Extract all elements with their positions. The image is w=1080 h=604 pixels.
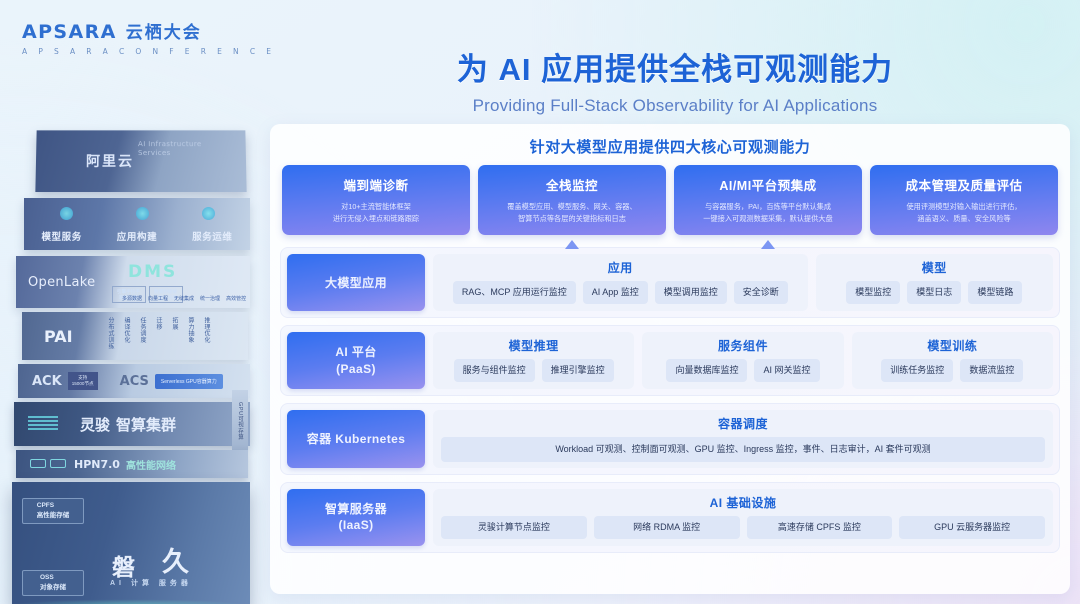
chip-item[interactable]: 模型日志 <box>907 281 961 304</box>
illus-dms-tag-4: 高效管控 <box>226 295 246 302</box>
illus-ack-badge: 支持15000节点 <box>68 372 98 389</box>
headline-subtitle: Providing Full-Stack Observability for A… <box>270 96 1080 116</box>
illus-pai-tag-5: 算力抽象 <box>186 317 195 350</box>
illus-pai-tag-4: 拓展 <box>170 317 179 350</box>
model-service-icon <box>60 207 73 220</box>
chip-item[interactable]: 推理引擎监控 <box>542 359 614 382</box>
panel-title: 针对大模型应用提供四大核心可观测能力 <box>280 136 1060 157</box>
chip-item[interactable]: 模型调用监控 <box>655 281 727 304</box>
capability-cards: 端到端诊断 对10+主流智能体框架进行无侵入埋点和链路跟踪 全栈监控 覆盖模型应… <box>280 165 1060 235</box>
illus-cloud-en-label: AI Infrastructure Services <box>138 140 230 159</box>
network-ports-icon <box>30 459 66 468</box>
capability-card[interactable]: 端到端诊断 对10+主流智能体框架进行无侵入埋点和链路跟踪 <box>282 165 470 235</box>
group-ai-infrastructure: AI 基础设施 灵骏计算节点监控 网络 RDMA 监控 高速存储 CPFS 监控… <box>433 489 1053 546</box>
logo-chinese-text: 云栖大会 <box>126 18 202 43</box>
illus-service-2: 服务运维 <box>192 229 232 243</box>
stack-row-ai-platform: AI 平台(PaaS) 模型推理 服务与组件监控 推理引擎监控 服务组件 向量数… <box>280 325 1060 396</box>
row-label[interactable]: 大模型应用 <box>287 254 425 311</box>
group-title: 模型推理 <box>509 337 559 354</box>
chip-item[interactable]: 灵骏计算节点监控 <box>441 516 587 539</box>
cluster-bars-icon <box>28 416 58 430</box>
main-panel: 针对大模型应用提供四大核心可观测能力 端到端诊断 对10+主流智能体框架进行无侵… <box>270 124 1070 594</box>
stack-row-kubernetes: 容器 Kubernetes 容器调度 Workload 可观测、控制面可观测、G… <box>280 403 1060 475</box>
stack-rows: 大模型应用 应用 RAG、MCP 应用运行监控 AI App 监控 模型调用监控… <box>280 247 1060 552</box>
card-arrow-icon <box>565 240 579 249</box>
card-title: 全栈监控 <box>486 175 658 194</box>
illus-layer-openlake: OpenLake DMS 引擎手拉手联邦计算 数据秒级统一湖仓共享 多源数据 向… <box>16 256 250 308</box>
apsara-logo: APSARA 云栖大会 A P S A R A C O N F E R E N … <box>22 18 275 56</box>
chip-item[interactable]: 向量数据库监控 <box>666 359 747 382</box>
chip-item[interactable]: 模型监控 <box>846 281 900 304</box>
card-title: 成本管理及质量评估 <box>878 175 1050 194</box>
chip-item[interactable]: 网络 RDMA 监控 <box>594 516 740 539</box>
illus-layer-cluster: 灵骏 智算集群 <box>14 402 250 446</box>
illus-base-glow <box>3 599 258 604</box>
illus-cpfs-label: CPFS高性能存储 <box>22 498 84 524</box>
illus-ack-label: ACK <box>32 374 62 389</box>
illus-dms-label: DMS <box>128 262 177 282</box>
alibaba-cloud-stack-illustration: 阿里云 AI Infrastructure Services 模型服务 应用构建… <box>0 122 262 604</box>
group-title: AI 基础设施 <box>710 494 777 511</box>
illus-pai-tag-3: 迁移 <box>154 317 163 350</box>
row-label[interactable]: 容器 Kubernetes <box>287 410 425 468</box>
service-ops-icon <box>202 207 215 220</box>
illus-layer-network: HPN7.0 高性能网络 <box>16 450 248 478</box>
illus-acs-label: ACS <box>120 374 149 389</box>
card-title: AI/MI平台预集成 <box>682 175 854 194</box>
chip-item[interactable]: 服务与组件监控 <box>454 359 535 382</box>
group-application: 应用 RAG、MCP 应用运行监控 AI App 监控 模型调用监控 安全诊断 <box>433 254 808 311</box>
stack-row-iaas: 智算服务器(IaaS) AI 基础设施 灵骏计算节点监控 网络 RDMA 监控 … <box>280 482 1060 553</box>
chip-item[interactable]: AI 网关监控 <box>754 359 819 382</box>
group-title: 应用 <box>608 259 633 276</box>
illus-network-label: 高性能网络 <box>126 457 176 472</box>
illus-acs-badge: Serverless GPU容器算力 <box>155 374 223 389</box>
chip-item[interactable]: RAG、MCP 应用运行监控 <box>453 281 576 304</box>
illus-dms-tag-3: 统一治理 <box>200 295 220 302</box>
card-description: 使用评测模型对输入输出进行评估，涵盖语义、质量、安全风险等 <box>878 201 1050 224</box>
illus-dms-tag-1: 向量工程 <box>148 295 168 302</box>
illus-cluster-label: 智算集群 <box>116 414 176 435</box>
illus-pai-tag-6: 推理优化 <box>202 317 211 350</box>
chip-item[interactable]: 安全诊断 <box>734 281 788 304</box>
illus-server-char-1: 磐 <box>112 548 135 582</box>
illus-network-name: HPN7.0 <box>74 458 120 471</box>
chip-item[interactable]: GPU 云服务器监控 <box>899 516 1045 539</box>
row-label[interactable]: AI 平台(PaaS) <box>287 332 425 389</box>
group-title: 服务组件 <box>718 337 768 354</box>
illus-gpu-side-label: GPU可视存算 <box>232 390 248 452</box>
card-description: 覆盖模型应用、模型服务、网关、容器、智算节点等各层的关键指标和日志 <box>486 201 658 224</box>
app-build-icon <box>136 207 149 220</box>
chip-item[interactable]: Workload 可观测、控制面可观测、GPU 监控、Ingress 监控，事件… <box>441 437 1045 462</box>
logo-apsara-text: APSARA <box>22 21 117 43</box>
card-description: 与容器服务，PAI，百炼等平台默认集成一键接入可观测数据采集，默认提供大盘 <box>682 201 854 224</box>
capability-card[interactable]: 全栈监控 覆盖模型应用、模型服务、网关、容器、智算节点等各层的关键指标和日志 <box>478 165 666 235</box>
illus-layer-container: ACK 支持15000节点 ACS Serverless GPU容器算力 <box>18 364 250 398</box>
illus-layer-services: 模型服务 应用构建 服务运维 <box>24 198 250 250</box>
illus-service-0: 模型服务 <box>41 229 81 243</box>
illus-service-1: 应用构建 <box>117 229 157 243</box>
page-headline: 为 AI 应用提供全栈可观测能力 Providing Full-Stack Ob… <box>270 44 1080 116</box>
card-description: 对10+主流智能体框架进行无侵入埋点和链路跟踪 <box>290 201 462 224</box>
stack-row-llm-application: 大模型应用 应用 RAG、MCP 应用运行监控 AI App 监控 模型调用监控… <box>280 247 1060 318</box>
chip-item[interactable]: 数据流监控 <box>960 359 1023 382</box>
card-arrow-icon <box>761 240 775 249</box>
logo-subtitle: A P S A R A C O N F E R E N C E <box>22 47 275 56</box>
capability-card[interactable]: 成本管理及质量评估 使用评测模型对输入输出进行评估，涵盖语义、质量、安全风险等 <box>870 165 1058 235</box>
illus-dms-tag-2: 无缝集成 <box>174 295 194 302</box>
illus-pai-label: PAI <box>44 327 73 346</box>
chip-item[interactable]: 模型链路 <box>968 281 1022 304</box>
chip-item[interactable]: AI App 监控 <box>583 281 648 304</box>
illus-oss-label: OSS对象存储 <box>22 570 84 596</box>
capability-card[interactable]: AI/MI平台预集成 与容器服务，PAI，百炼等平台默认集成一键接入可观测数据采… <box>674 165 862 235</box>
illus-layer-cloud: 阿里云 AI Infrastructure Services <box>35 130 246 192</box>
group-title: 容器调度 <box>718 415 768 432</box>
illus-server-char-2: 久 <box>162 540 189 579</box>
group-title: 模型 <box>922 259 947 276</box>
illus-layer-pai: PAI 分布式训练 编译优化 任务调度 迁移 拓展 算力抽象 推理优化 <box>22 312 248 360</box>
headline-title: 为 AI 应用提供全栈可观测能力 <box>270 44 1080 89</box>
group-model: 模型 模型监控 模型日志 模型链路 <box>816 254 1053 311</box>
group-title: 模型训练 <box>927 337 977 354</box>
group-container-scheduling: 容器调度 Workload 可观测、控制面可观测、GPU 监控、Ingress … <box>433 410 1053 468</box>
card-title: 端到端诊断 <box>290 175 462 194</box>
group-model-inference: 模型推理 服务与组件监控 推理引擎监控 <box>433 332 634 389</box>
chip-item[interactable]: 训练任务监控 <box>881 359 953 382</box>
chip-item[interactable]: 高速存储 CPFS 监控 <box>747 516 893 539</box>
group-service-components: 服务组件 向量数据库监控 AI 网关监控 <box>642 332 843 389</box>
row-label[interactable]: 智算服务器(IaaS) <box>287 489 425 546</box>
illus-dms-tag-0: 多源数据 <box>122 295 142 302</box>
illus-layer-server: CPFS高性能存储 OSS对象存储 磐 久 AI 计算 服务器 <box>12 482 250 604</box>
illus-cloud-label: 阿里云 <box>86 151 134 171</box>
illus-pai-tag-2: 任务调度 <box>138 317 147 350</box>
illus-server-caption: AI 计算 服务器 <box>110 578 192 588</box>
illus-cluster-name: 灵骏 <box>80 414 110 435</box>
group-model-training: 模型训练 训练任务监控 数据流监控 <box>852 332 1053 389</box>
illus-pai-tag-1: 编译优化 <box>122 317 131 350</box>
illus-pai-tag-0: 分布式训练 <box>106 317 115 350</box>
